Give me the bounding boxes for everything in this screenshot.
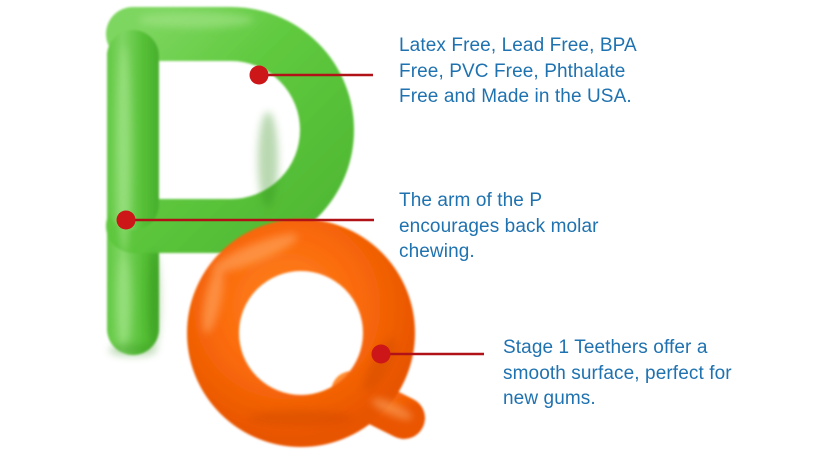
callout-1-dot <box>250 66 269 85</box>
letter-q-shape <box>213 245 404 421</box>
callout-1-text: Latex Free, Lead Free, BPA Free, PVC Fre… <box>399 33 689 110</box>
teether-infographic: Latex Free, Lead Free, BPA Free, PVC Fre… <box>0 0 820 458</box>
callout-2-dot <box>117 211 136 230</box>
callout-2-text: The arm of the P encourages back molar c… <box>399 188 649 265</box>
callout-3-text: Stage 1 Teethers offer a smooth surface,… <box>503 335 803 412</box>
callout-3-dot <box>372 345 391 364</box>
